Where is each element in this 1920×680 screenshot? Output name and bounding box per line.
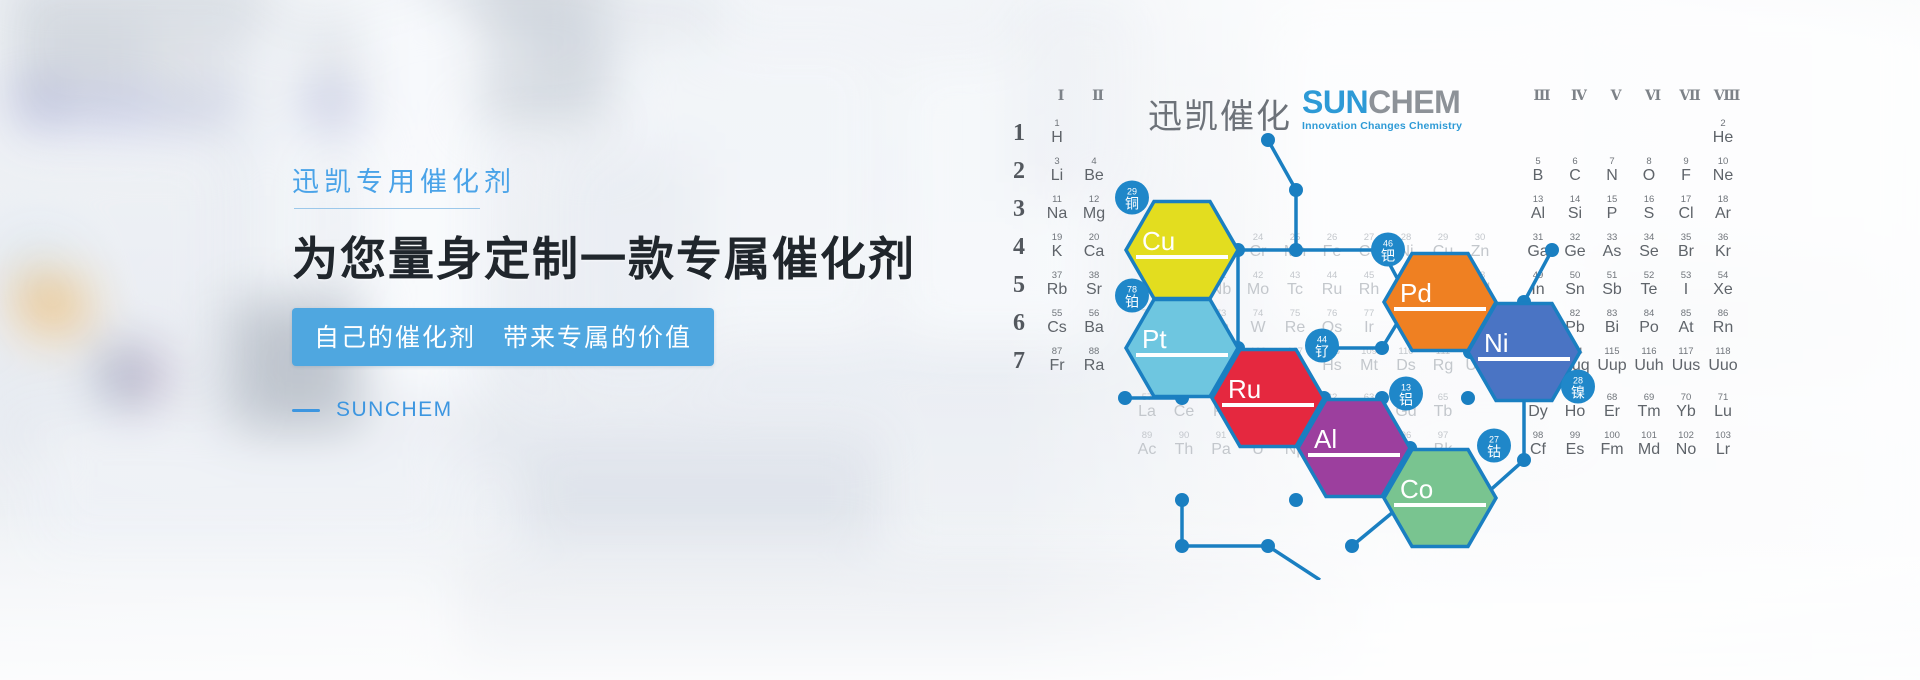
hexagon-symbol: Ru xyxy=(1228,374,1261,404)
logo-word-sun: SUN xyxy=(1302,84,1368,120)
molecule-bond xyxy=(1268,546,1320,580)
molecule-node xyxy=(1261,539,1275,553)
hexagon-badge-ru: 44钌 xyxy=(1305,329,1339,363)
molecule-node xyxy=(1545,243,1559,257)
badge-chinese-name: 钯 xyxy=(1381,248,1395,264)
molecule-bond xyxy=(1524,250,1552,302)
hexagon-symbol: Ni xyxy=(1484,328,1509,358)
hero-signature-text: SUNCHEM xyxy=(336,398,453,422)
logo-english-lockup: SUNCHEM Innovation Changes Chemistry xyxy=(1302,86,1462,134)
molecule-node xyxy=(1118,391,1132,405)
logo-chinese-name: 迅凯催化 xyxy=(1148,100,1292,134)
molecule-node xyxy=(1289,493,1303,507)
molecule-node xyxy=(1175,493,1189,507)
molecule-bond xyxy=(1268,140,1296,190)
badge-chinese-name: 铜 xyxy=(1125,196,1139,212)
molecule-hexagon-graphic: Cu29铜Pt78铂Ru44钌Pd46钯Al13铝Ni28镍Co27钴 xyxy=(1000,80,1760,580)
sunchem-logo: 迅凯催化 SUNCHEM Innovation Changes Chemistr… xyxy=(1148,86,1462,134)
hero-copy: 迅凯专用催化剂 为您量身定制一款专属催化剂 自己的催化剂 带来专属的价值 SUN… xyxy=(292,166,852,422)
dash-icon xyxy=(292,409,320,412)
hexagon-symbol: Al xyxy=(1314,424,1337,454)
molecule-node xyxy=(1375,341,1389,355)
hexagon-symbol: Pd xyxy=(1400,278,1432,308)
hero-eyebrow: 迅凯专用催化剂 xyxy=(292,166,852,208)
molecule-node xyxy=(1517,453,1531,467)
molecule-node xyxy=(1175,539,1189,553)
hexagon-badge-ni: 28镍 xyxy=(1561,369,1595,403)
hero-banner: 迅凯专用催化剂 为您量身定制一款专属催化剂 自己的催化剂 带来专属的价值 SUN… xyxy=(0,0,1920,680)
logo-word-chem: CHEM xyxy=(1368,84,1460,120)
molecule-node xyxy=(1461,391,1475,405)
badge-chinese-name: 钌 xyxy=(1315,344,1329,360)
badge-chinese-name: 铂 xyxy=(1125,294,1139,310)
badge-chinese-name: 镍 xyxy=(1571,384,1585,400)
molecule-svg: Cu29铜Pt78铂Ru44钌Pd46钯Al13铝Ni28镍Co27钴 xyxy=(1000,80,1760,580)
hexagon-ni[interactable]: Ni28镍 xyxy=(1468,304,1595,404)
hexagon-symbol: Pt xyxy=(1142,324,1167,354)
hexagon-symbol: Cu xyxy=(1142,226,1175,256)
hero-headline: 为您量身定制一款专属催化剂 xyxy=(292,231,852,288)
hexagon-symbol: Co xyxy=(1400,474,1433,504)
logo-tagline: Innovation Changes Chemistry xyxy=(1302,121,1462,132)
hexagon-badge-cu: 29铜 xyxy=(1115,181,1149,215)
molecule-node xyxy=(1289,183,1303,197)
hero-signature: SUNCHEM xyxy=(292,398,852,422)
molecule-node xyxy=(1289,243,1303,257)
badge-chinese-name: 钴 xyxy=(1487,444,1501,460)
hero-eyebrow-rule xyxy=(294,208,480,209)
badge-chinese-name: 铝 xyxy=(1399,392,1413,408)
hero-tagline-pill: 自己的催化剂 带来专属的价值 xyxy=(292,308,714,366)
hexagon-badge-co: 27钴 xyxy=(1477,429,1511,463)
molecule-node xyxy=(1345,539,1359,553)
hexagon-badge-pd: 46钯 xyxy=(1371,233,1405,267)
hexagon-badge-al: 13铝 xyxy=(1389,377,1423,411)
hexagon-badge-pt: 78铂 xyxy=(1115,279,1149,313)
